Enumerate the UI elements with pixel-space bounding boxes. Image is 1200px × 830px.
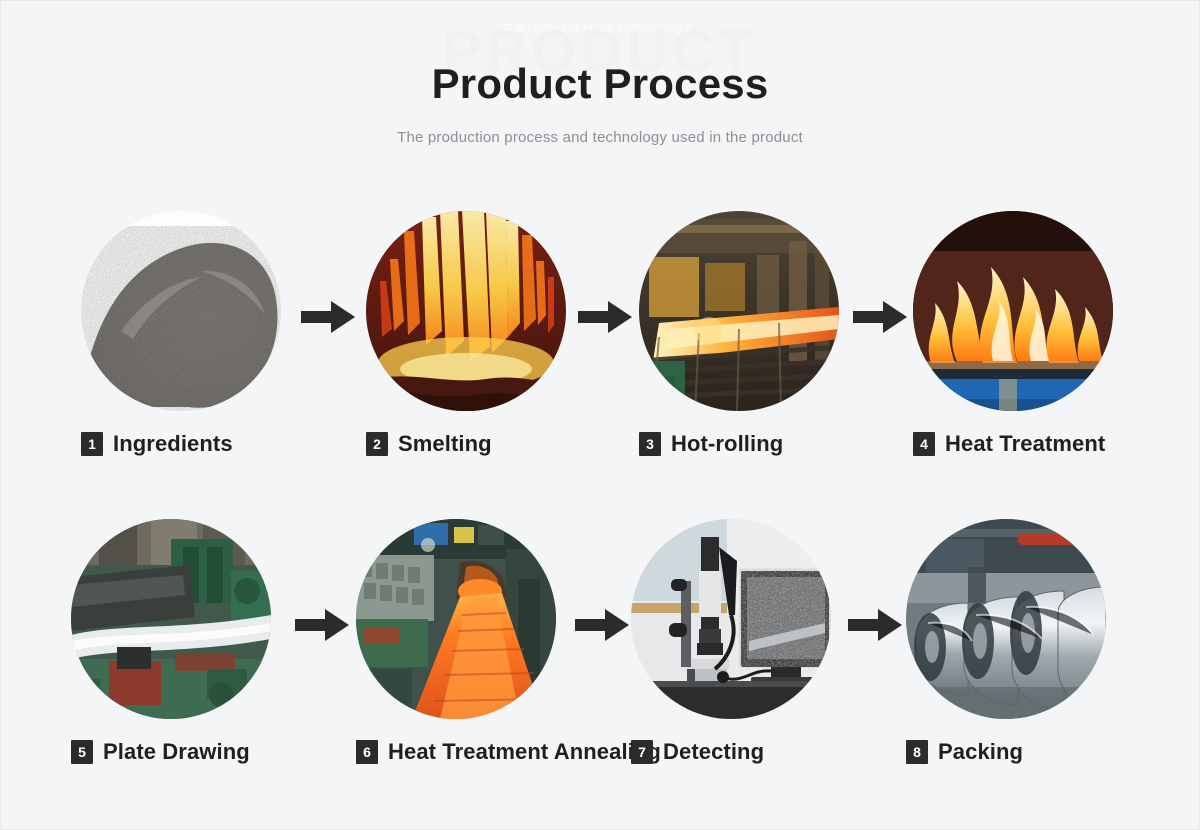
arrow-6-to-7-icon — [573, 605, 631, 645]
step-7-label: 7 Detecting — [631, 739, 841, 765]
process-step-4[interactable]: 4 Heat Treatment — [913, 211, 1123, 457]
hot-rolling-photo — [639, 211, 839, 411]
page-title: Product Process — [1, 61, 1199, 107]
heat-treatment-photo — [913, 211, 1113, 411]
step-5-name: Plate Drawing — [103, 739, 250, 765]
detecting-photo — [631, 519, 831, 719]
header: PRODUCTION PROCESS PRODUCT Product Proce… — [1, 1, 1199, 146]
step-5-label: 5 Plate Drawing — [71, 739, 281, 765]
step-3-badge: 3 — [639, 432, 661, 456]
step-4-badge: 4 — [913, 432, 935, 456]
step-1-badge: 1 — [81, 432, 103, 456]
step-3-name: Hot-rolling — [671, 431, 783, 457]
step-5-badge: 5 — [71, 740, 93, 764]
step-2-label: 2 Smelting — [366, 431, 576, 457]
process-step-1[interactable]: 1 Ingredients — [81, 211, 291, 457]
process-step-5[interactable]: 5 Plate Drawing — [71, 519, 281, 765]
step-2-name: Smelting — [398, 431, 492, 457]
process-step-6[interactable]: 6 Heat Treatment Annealing — [356, 519, 566, 765]
step-8-label: 8 Packing — [906, 739, 1116, 765]
step-4-name: Heat Treatment — [945, 431, 1105, 457]
arrow-2-to-3-icon — [576, 297, 634, 337]
step-7-name: Detecting — [663, 739, 764, 765]
ingredients-photo — [81, 211, 281, 411]
process-step-8[interactable]: 8 Packing — [906, 519, 1116, 765]
step-8-name: Packing — [938, 739, 1023, 765]
plate-drawing-photo — [71, 519, 271, 719]
step-6-badge: 6 — [356, 740, 378, 764]
arrow-7-to-8-icon — [846, 605, 904, 645]
step-6-label: 6 Heat Treatment Annealing — [356, 739, 566, 765]
arrow-5-to-6-icon — [293, 605, 351, 645]
arrow-3-to-4-icon — [851, 297, 909, 337]
step-1-name: Ingredients — [113, 431, 233, 457]
process-step-7[interactable]: 7 Detecting — [631, 519, 841, 765]
step-3-label: 3 Hot-rolling — [639, 431, 849, 457]
step-4-label: 4 Heat Treatment — [913, 431, 1123, 457]
product-process-infographic: PRODUCTION PROCESS PRODUCT Product Proce… — [0, 0, 1200, 830]
step-8-badge: 8 — [906, 740, 928, 764]
arrow-1-to-2-icon — [299, 297, 357, 337]
smelting-photo — [366, 211, 566, 411]
process-row-1: 1 Ingredients — [1, 197, 1200, 497]
step-6-name: Heat Treatment Annealing — [388, 739, 661, 765]
step-1-label: 1 Ingredients — [81, 431, 291, 457]
annealing-photo — [356, 519, 556, 719]
step-2-badge: 2 — [366, 432, 388, 456]
process-step-3[interactable]: 3 Hot-rolling — [639, 211, 849, 457]
step-7-badge: 7 — [631, 740, 653, 764]
packing-photo — [906, 519, 1106, 719]
page-subtitle: The production process and technology us… — [1, 129, 1199, 146]
process-step-2[interactable]: 2 Smelting — [366, 211, 576, 457]
process-row-2: 5 Plate Drawing — [1, 505, 1200, 805]
